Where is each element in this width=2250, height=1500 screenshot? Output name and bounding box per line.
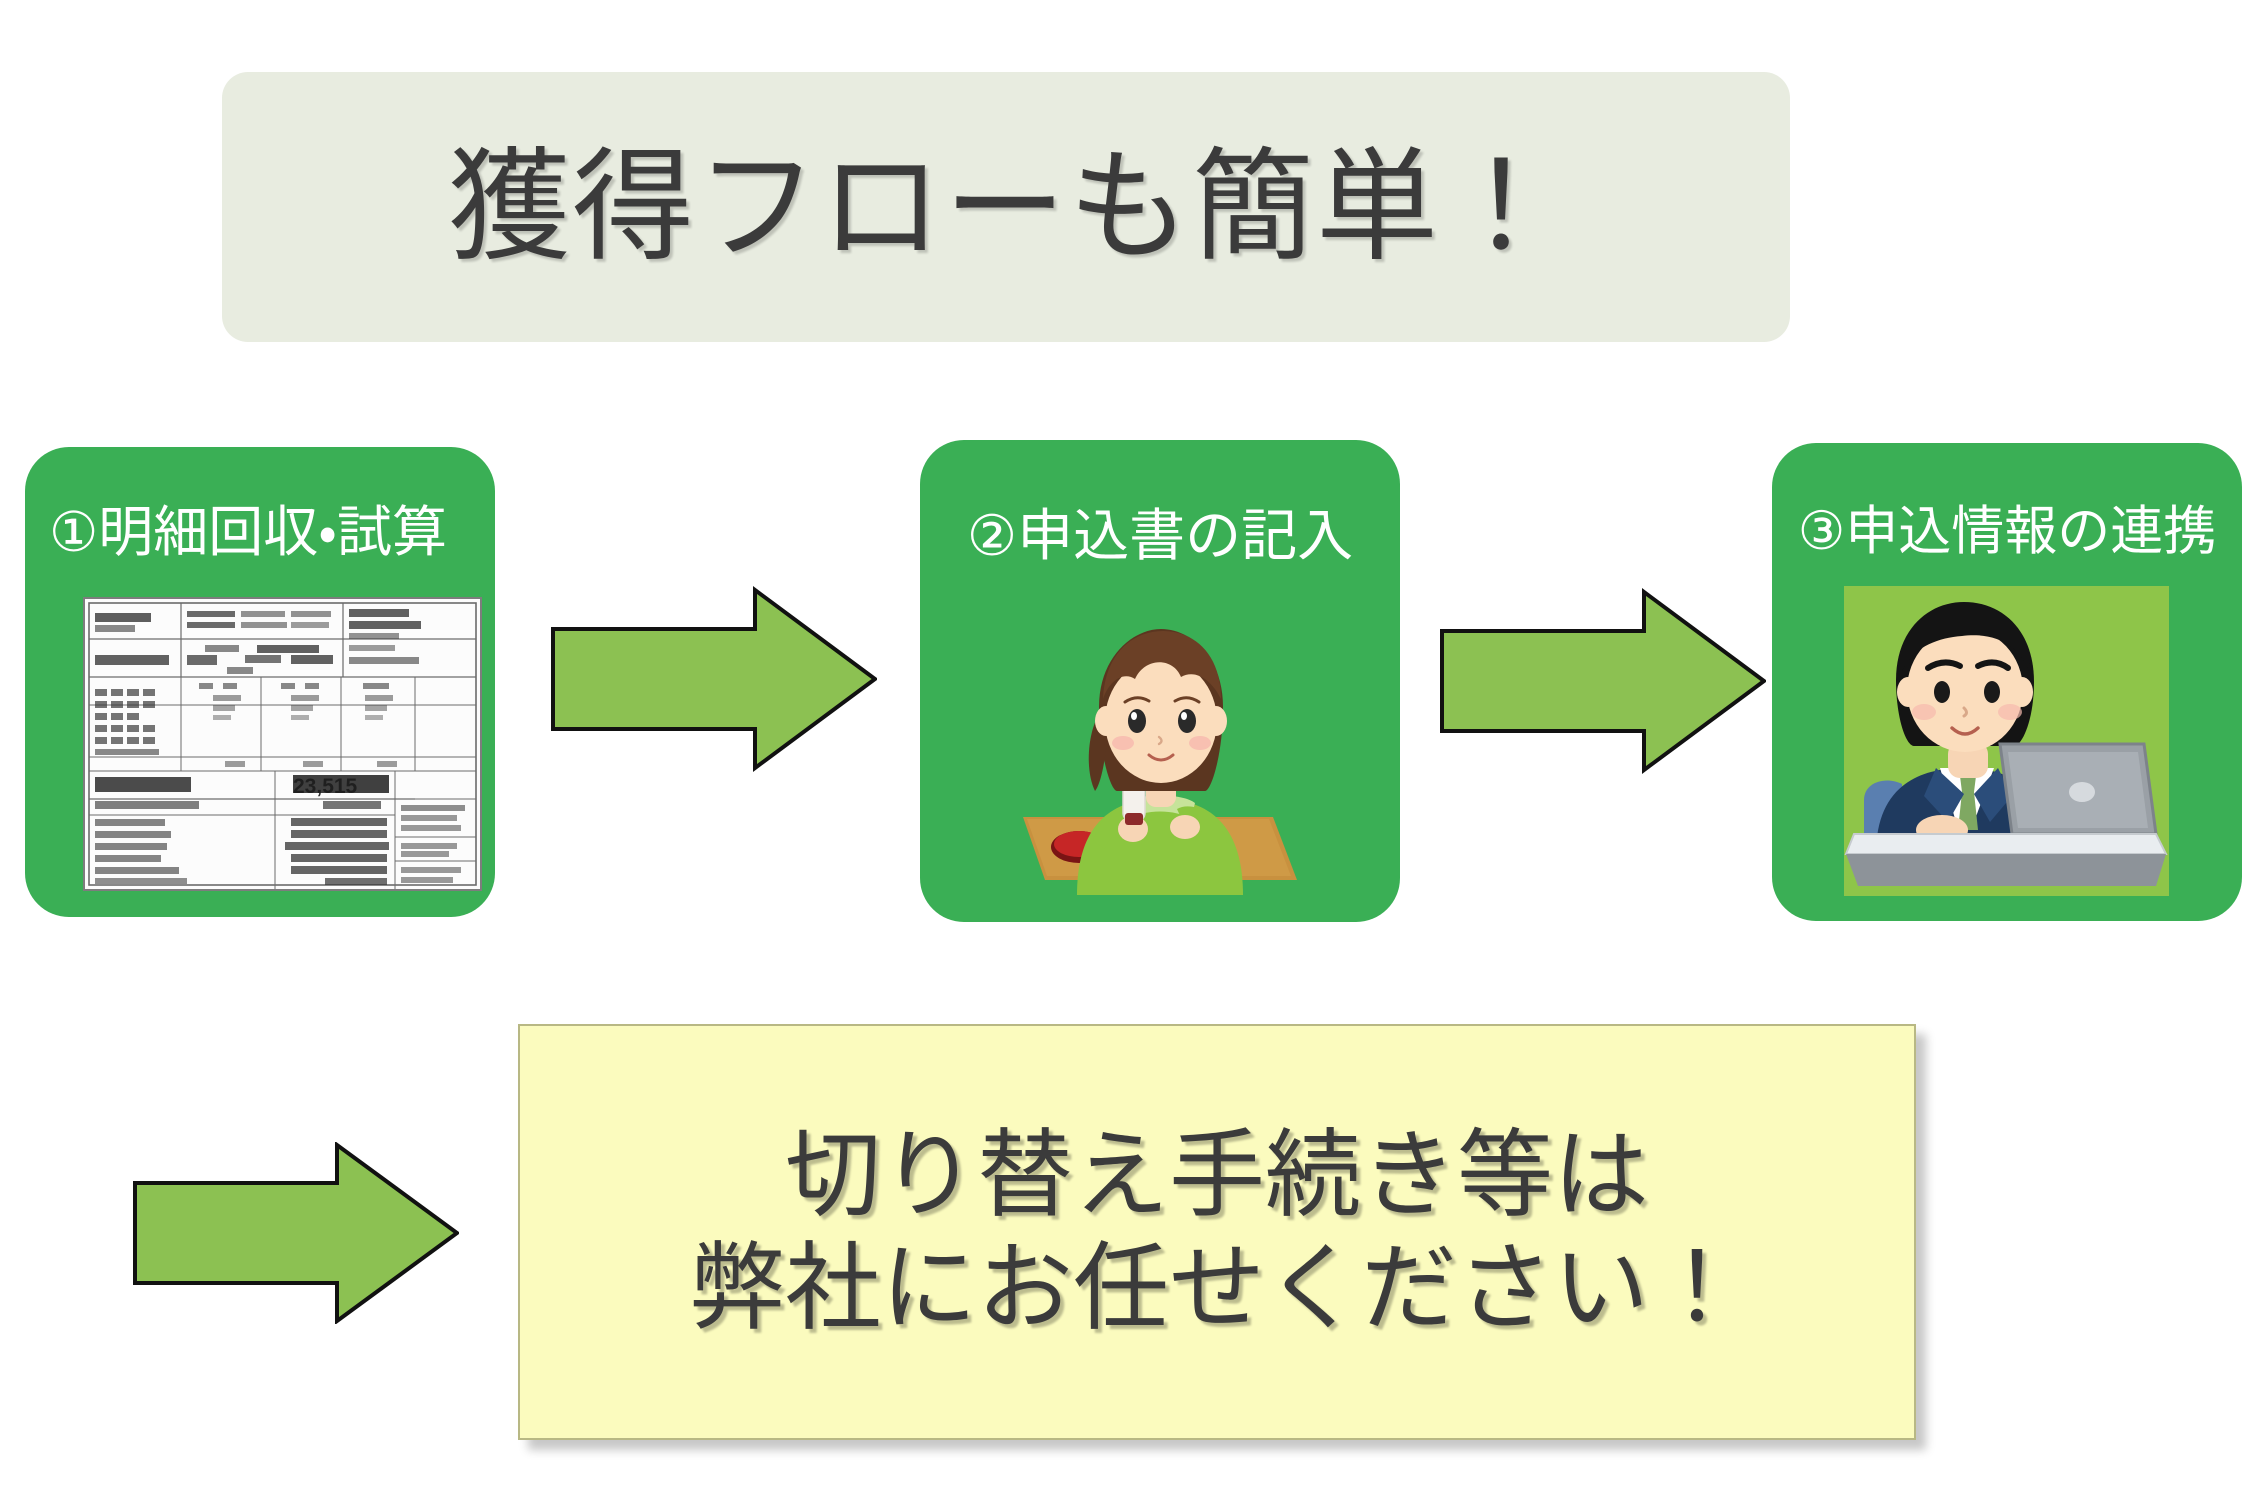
arrow-to-callout [133,1142,459,1324]
step-2-label: ②申込書の記入 [920,508,1400,564]
step-card-3[interactable]: ③申込情報の連携 [1772,443,2242,921]
slide-canvas: 獲得フローも簡単！ ①明細回収・試算 [0,0,2250,1500]
arrow-step1-to-step2 [551,586,877,772]
callout-line-1: 切り替え手続き等は [785,1119,1649,1232]
step-2-media-illustration [1005,595,1315,895]
step-3-label: ③申込情報の連携 [1772,505,2242,558]
electricity-bill-image: 23,515 [85,599,480,889]
svg-text:23,515: 23,515 [293,775,358,798]
arrow-step2-to-step3 [1440,588,1766,774]
step-card-2[interactable]: ②申込書の記入 [920,440,1400,922]
step-3-media-illustration [1844,586,2169,896]
title-banner: 獲得フローも簡単！ [222,72,1790,342]
step-card-1[interactable]: ①明細回収・試算 [25,447,495,917]
callout-box: 切り替え手続き等は 弊社にお任せください！ [518,1024,1916,1440]
step-1-label: ①明細回収・試算 [49,505,495,560]
callout-line-2: 弊社にお任せください！ [689,1232,1745,1345]
step-1-media-bill: 23,515 [83,597,482,891]
page-title: 獲得フローも簡単！ [448,146,1564,268]
